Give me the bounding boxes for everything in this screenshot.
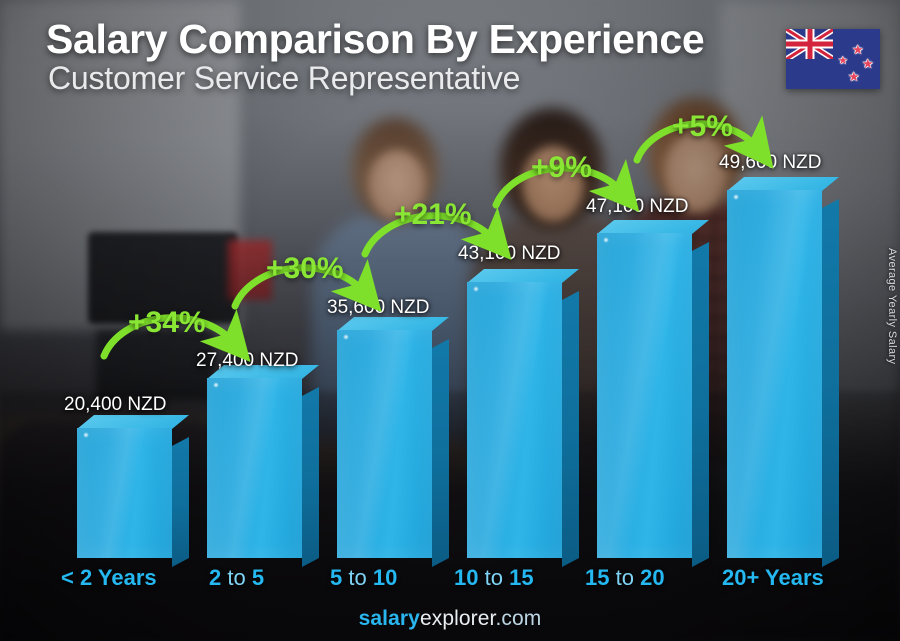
growth-label-3: +21%	[394, 198, 472, 232]
bar-front-face-3	[337, 330, 432, 558]
salary-chart-infographic: Salary Comparison By Experience Customer…	[0, 0, 900, 641]
bar-sheen-1	[77, 428, 172, 558]
x-axis-label-3-to: to	[348, 565, 366, 590]
bar-side-face-5	[692, 242, 709, 567]
bar-top-face-4	[467, 269, 579, 283]
bar-sheen-2	[207, 378, 302, 558]
x-axis-label-6[interactable]: 20+ Years	[722, 565, 824, 591]
growth-label-5: +5%	[672, 110, 733, 144]
growth-label-2: +30%	[266, 252, 344, 286]
bar-front-face-5	[597, 233, 692, 558]
bar-column-5[interactable]	[597, 233, 692, 558]
bar-front-face-2	[207, 378, 302, 558]
x-axis-label-1-text: < 2 Years	[61, 565, 157, 590]
bar-highlight-4	[473, 286, 479, 292]
bar-sheen-5	[597, 233, 692, 558]
bar-value-label-1: 20,400 NZD	[64, 394, 166, 416]
bar-sheen-6	[727, 190, 822, 558]
bar-value-label-4: 43,100 NZD	[458, 243, 560, 265]
x-axis-label-4-upto: 15	[509, 565, 533, 590]
bar-column-4[interactable]	[467, 282, 562, 558]
bar-column-1[interactable]	[77, 428, 172, 558]
bar-side-face-2	[302, 387, 319, 567]
bar-column-2[interactable]	[207, 378, 302, 558]
bar-top-face-5	[597, 220, 709, 234]
bar-value-label-2: 27,400 NZD	[196, 350, 298, 372]
bar-column-6[interactable]	[727, 190, 822, 558]
bar-side-face-6	[822, 199, 839, 567]
x-axis-label-2-upto: 5	[252, 565, 264, 590]
bar-side-face-1	[172, 437, 189, 567]
bar-top-face-3	[337, 317, 449, 331]
bar-front-face-6	[727, 190, 822, 558]
x-axis-label-5-from: 15	[585, 565, 609, 590]
bar-chart: 20,400 NZD 27,400 NZD 35,600 NZD 43,100 …	[0, 0, 900, 641]
bar-side-face-3	[432, 339, 449, 567]
bar-highlight-5	[603, 237, 609, 243]
x-axis-label-6-text: 20+ Years	[722, 565, 824, 590]
x-axis-label-2[interactable]: 2 to 5	[209, 565, 264, 591]
x-axis-label-5[interactable]: 15 to 20	[585, 565, 665, 591]
bar-highlight-3	[343, 334, 349, 340]
x-axis-label-5-upto: 20	[640, 565, 664, 590]
bar-top-face-1	[77, 415, 189, 429]
brand-name-light: explorer	[420, 607, 496, 630]
bar-sheen-4	[467, 282, 562, 558]
x-axis-label-3-upto: 10	[373, 565, 397, 590]
x-axis-label-4-to: to	[485, 565, 503, 590]
bar-value-label-6: 49,600 NZD	[719, 152, 821, 174]
bar-front-face-4	[467, 282, 562, 558]
x-axis-label-4[interactable]: 10 to 15	[454, 565, 534, 591]
brand-domain: .com	[495, 607, 541, 630]
growth-label-4: +9%	[531, 151, 592, 185]
x-axis-label-2-from: 2	[209, 565, 221, 590]
bar-highlight-2	[213, 382, 219, 388]
x-axis-label-4-from: 10	[454, 565, 478, 590]
bar-front-face-1	[77, 428, 172, 558]
bar-value-label-3: 35,600 NZD	[327, 297, 429, 319]
x-axis-label-5-to: to	[616, 565, 634, 590]
bar-highlight-6	[733, 194, 739, 200]
bar-sheen-3	[337, 330, 432, 558]
x-axis-label-3[interactable]: 5 to 10	[330, 565, 397, 591]
growth-label-1: +34%	[128, 306, 206, 340]
x-axis-label-2-to: to	[227, 565, 245, 590]
x-axis-label-1[interactable]: < 2 Years	[61, 565, 157, 591]
bar-top-face-6	[727, 177, 839, 191]
bar-highlight-1	[83, 432, 89, 438]
bar-column-3[interactable]	[337, 330, 432, 558]
brand-name-bold: salary	[359, 607, 420, 630]
x-axis-label-3-from: 5	[330, 565, 342, 590]
bar-side-face-4	[562, 291, 579, 567]
site-branding[interactable]: salaryexplorer.com	[0, 607, 900, 631]
bar-value-label-5: 47,100 NZD	[586, 196, 688, 218]
